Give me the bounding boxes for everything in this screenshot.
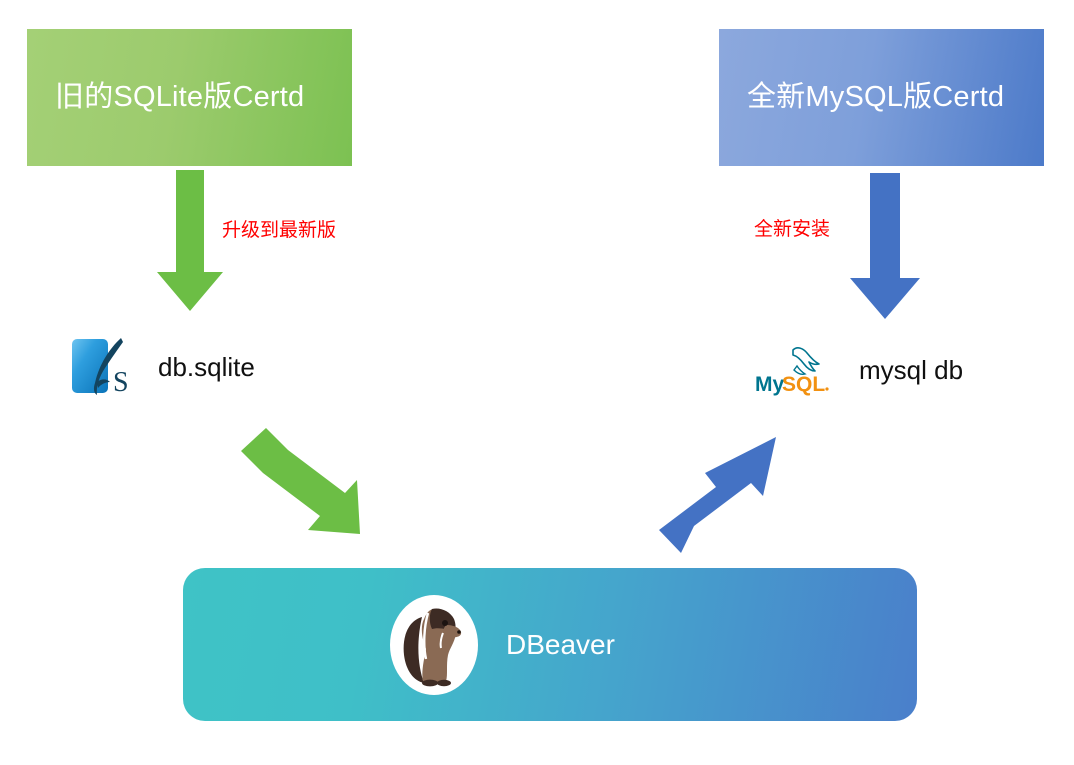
- arrow-fresh-install-down: [850, 173, 920, 319]
- node-mysql-db-label: mysql db: [859, 355, 963, 386]
- mysql-wordmark-sql: SQL: [782, 373, 825, 396]
- arrow-upgrade-down: [157, 170, 223, 311]
- sqlite-logo-icon: S: [66, 333, 138, 401]
- node-mysql-db-inner: My SQL mysql db: [725, 332, 1042, 409]
- dbeaver-beaver-icon: [388, 593, 480, 697]
- mysql-logo-icon: My SQL: [751, 343, 837, 399]
- edge-label-upgrade: 升级到最新版: [222, 215, 336, 242]
- arrow-sqlite-to-dbeaver: [241, 428, 360, 534]
- arrow-dbeaver-to-mysql: [659, 437, 776, 553]
- svg-text:S: S: [113, 367, 129, 398]
- node-db-sqlite[interactable]: S db.sqlite: [26, 322, 353, 412]
- node-old-sqlite-certd[interactable]: 旧的SQLite版Certd: [27, 29, 352, 166]
- mysql-wordmark-my: My: [755, 373, 784, 396]
- node-mysql-db[interactable]: My SQL mysql db: [723, 330, 1044, 411]
- diagram-canvas: 旧的SQLite版Certd 全新MySQL版Certd 升级到最新版 全新安装: [0, 0, 1074, 765]
- edge-label-fresh-install: 全新安装: [754, 214, 830, 241]
- node-db-sqlite-inner: S db.sqlite: [28, 324, 351, 410]
- node-new-mysql-certd[interactable]: 全新MySQL版Certd: [719, 29, 1044, 166]
- node-old-sqlite-certd-label: 旧的SQLite版Certd: [27, 80, 304, 115]
- node-db-sqlite-label: db.sqlite: [158, 352, 255, 383]
- node-new-mysql-certd-label: 全新MySQL版Certd: [719, 80, 1004, 115]
- node-dbeaver-label: DBeaver: [506, 629, 615, 661]
- node-dbeaver[interactable]: DBeaver: [183, 568, 917, 721]
